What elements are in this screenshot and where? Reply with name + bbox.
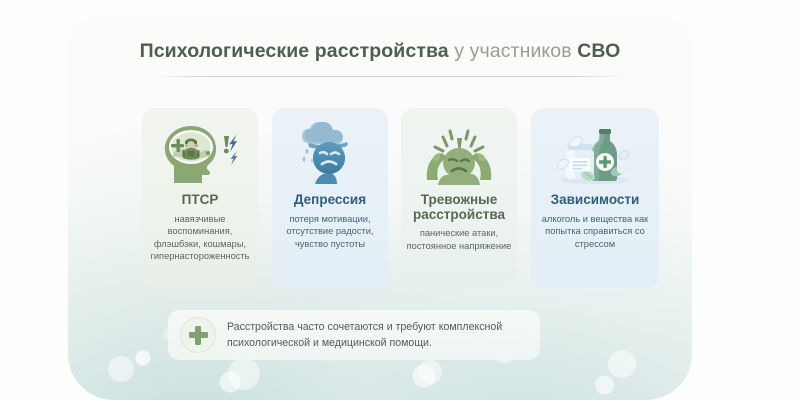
card-ptsr[interactable]: ПТСР навязчивые воспоминания, флэшбэки, … [142, 108, 258, 288]
card-anxiety[interactable]: Тревожные расстройства панические атаки,… [401, 108, 517, 288]
summary-banner: Расстройства часто сочетаются и требуют … [168, 310, 540, 360]
title-part-light: у участников [449, 40, 577, 62]
card-addiction[interactable]: Зависимости алкоголь и вещества как попы… [531, 108, 659, 288]
card-description: потеря мотивации, отсутствие радости, чу… [272, 213, 388, 251]
infographic-stage: Психологические расстройства у участнико… [0, 0, 800, 400]
card-title: ПТСР [182, 193, 219, 208]
card-title: Зависимости [551, 193, 640, 208]
card-depression[interactable]: Депрессия потеря мотивации, отсутствие р… [272, 108, 388, 288]
cards-row: ПТСР навязчивые воспоминания, флэшбэки, … [142, 108, 660, 288]
card-description: алкоголь и вещества как попытка справить… [531, 213, 659, 251]
cross-shape [189, 326, 208, 345]
bokeh-dot [608, 350, 636, 378]
title-divider [152, 76, 626, 77]
bottle-pills-icon [552, 117, 638, 191]
medical-cross-icon [180, 317, 216, 353]
card-title: Депрессия [294, 193, 366, 208]
bokeh-dot [228, 358, 260, 390]
anxious-head-hands-icon [418, 117, 500, 191]
card-description: панические атаки, постоянное напряжение [401, 227, 517, 252]
bokeh-dot [418, 360, 442, 384]
title-part-acronym: СВО [577, 40, 620, 62]
sad-face-raincloud-icon [293, 117, 367, 191]
banner-text: Расстройства часто сочетаются и требуют … [227, 319, 540, 351]
card-description: навязчивые воспоминания, флэшбэки, кошма… [142, 213, 258, 263]
page-title: Психологические расстройства у участнико… [68, 40, 692, 63]
bokeh-dot [108, 356, 134, 382]
title-part-strong: Психологические расстройства [140, 40, 449, 62]
head-soldier-flashback-icon [161, 117, 239, 191]
card-title: Тревожные расстройства [401, 193, 517, 222]
